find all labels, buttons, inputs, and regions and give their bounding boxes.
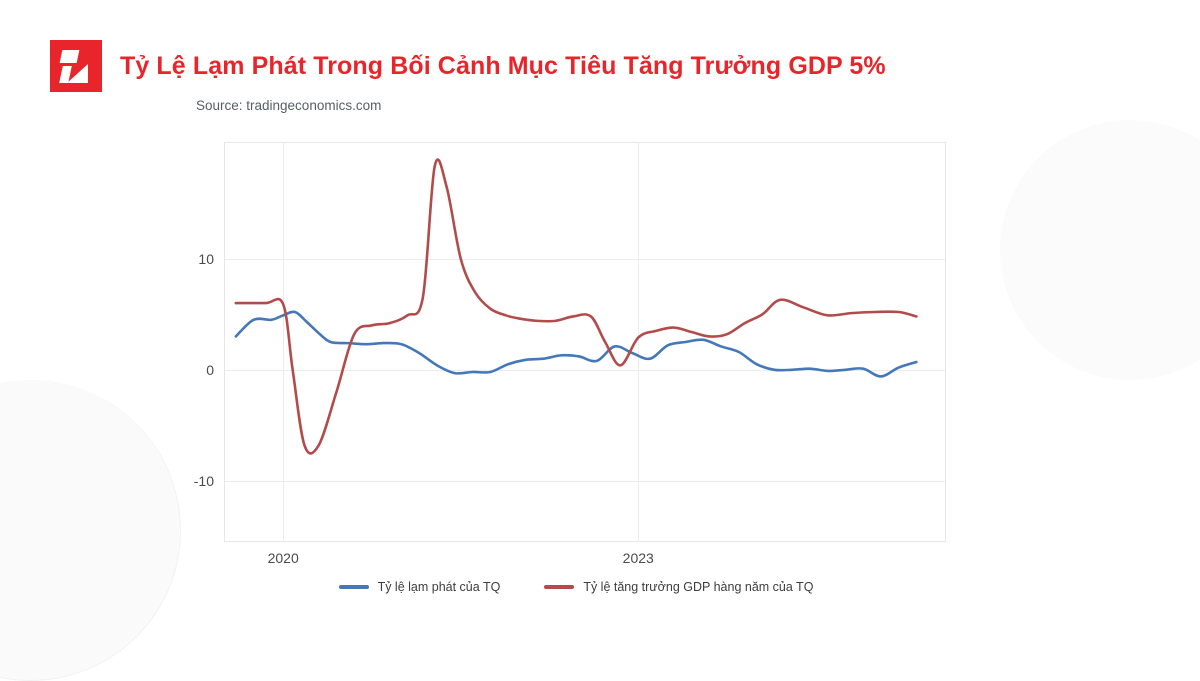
series-line <box>236 160 917 454</box>
legend-label: Tỷ lệ tăng trưởng GDP hàng năm của TQ <box>583 580 813 594</box>
y-tick-label: 10 <box>154 251 214 267</box>
legend-item[interactable]: Tỷ lệ tăng trưởng GDP hàng năm của TQ <box>544 580 813 594</box>
chart-legend: Tỷ lệ lạm phát của TQTỷ lệ tăng trưởng G… <box>196 580 956 594</box>
chart-container: 100-10 20202023 Tỷ lệ lạm phát của TQTỷ … <box>196 132 956 602</box>
x-tick-label: 2023 <box>623 550 654 566</box>
chart-series-layer <box>224 142 946 542</box>
chart-source-label: Source: tradingeconomics.com <box>196 98 381 113</box>
y-tick-label: 0 <box>154 362 214 378</box>
background-decoration-right <box>1000 120 1200 380</box>
legend-swatch <box>339 585 369 589</box>
legend-label: Tỷ lệ lạm phát của TQ <box>378 580 501 594</box>
page-title: Tỷ Lệ Lạm Phát Trong Bối Cảnh Mục Tiêu T… <box>120 52 886 81</box>
header: Tỷ Lệ Lạm Phát Trong Bối Cảnh Mục Tiêu T… <box>50 40 886 92</box>
background-decoration-left <box>0 380 181 681</box>
legend-swatch <box>544 585 574 589</box>
legend-item[interactable]: Tỷ lệ lạm phát của TQ <box>339 580 501 594</box>
document-pen-logo-icon <box>50 40 102 92</box>
x-tick-label: 2020 <box>268 550 299 566</box>
series-line <box>236 312 917 377</box>
y-tick-label: -10 <box>154 473 214 489</box>
